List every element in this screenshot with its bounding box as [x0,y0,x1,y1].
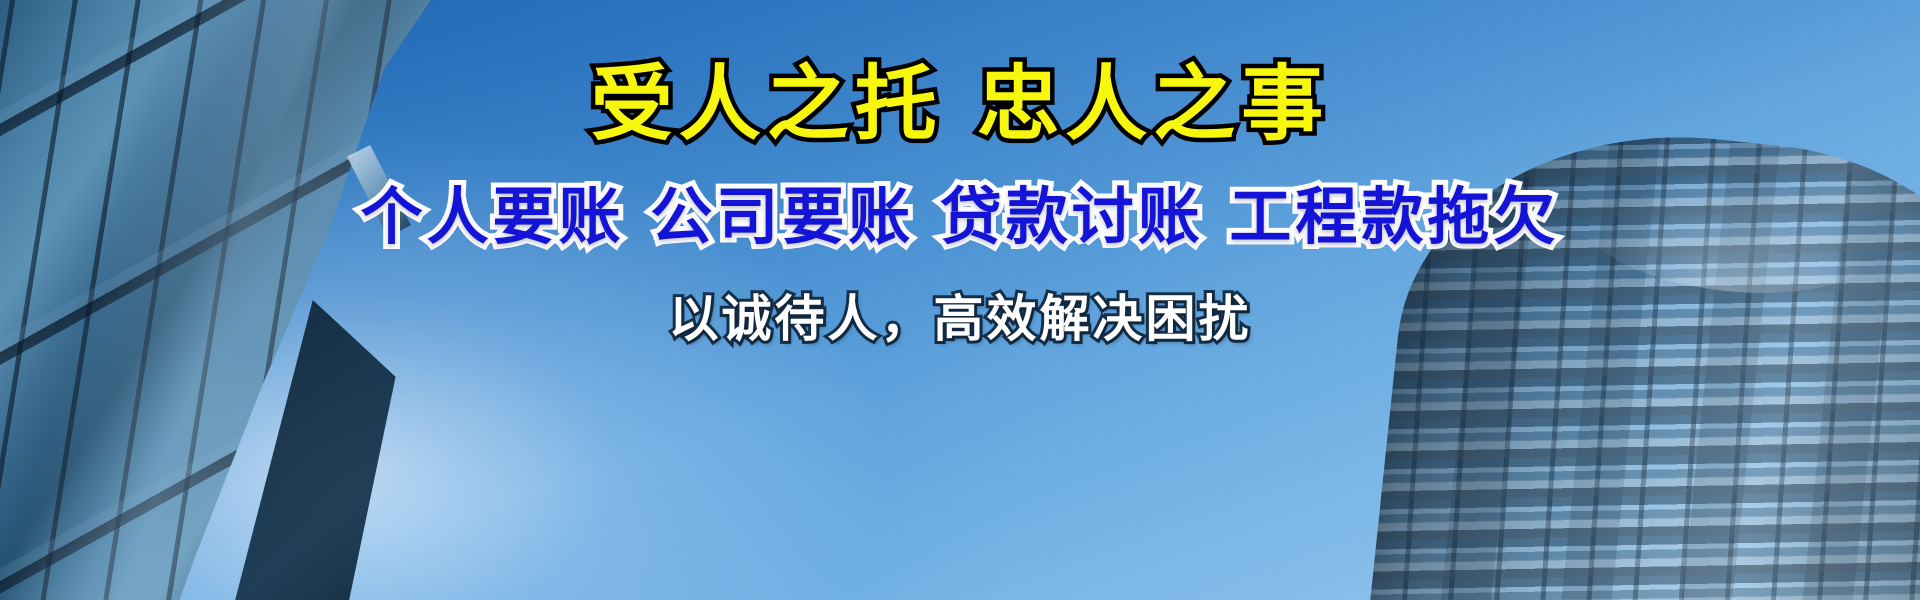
banner-headline: 受人之托 忠人之事 [591,62,1330,148]
banner-tagline: 以诚待人，高效解决困扰 [669,293,1252,346]
banner-text-block: 受人之托 忠人之事 个人要账 公司要账 贷款讨账 工程款拖欠 以诚待人，高效解决… [0,0,1920,600]
banner-subheadline: 个人要账 公司要账 贷款讨账 工程款拖欠 [361,184,1560,249]
promo-banner: 受人之托 忠人之事 个人要账 公司要账 贷款讨账 工程款拖欠 以诚待人，高效解决… [0,0,1920,600]
